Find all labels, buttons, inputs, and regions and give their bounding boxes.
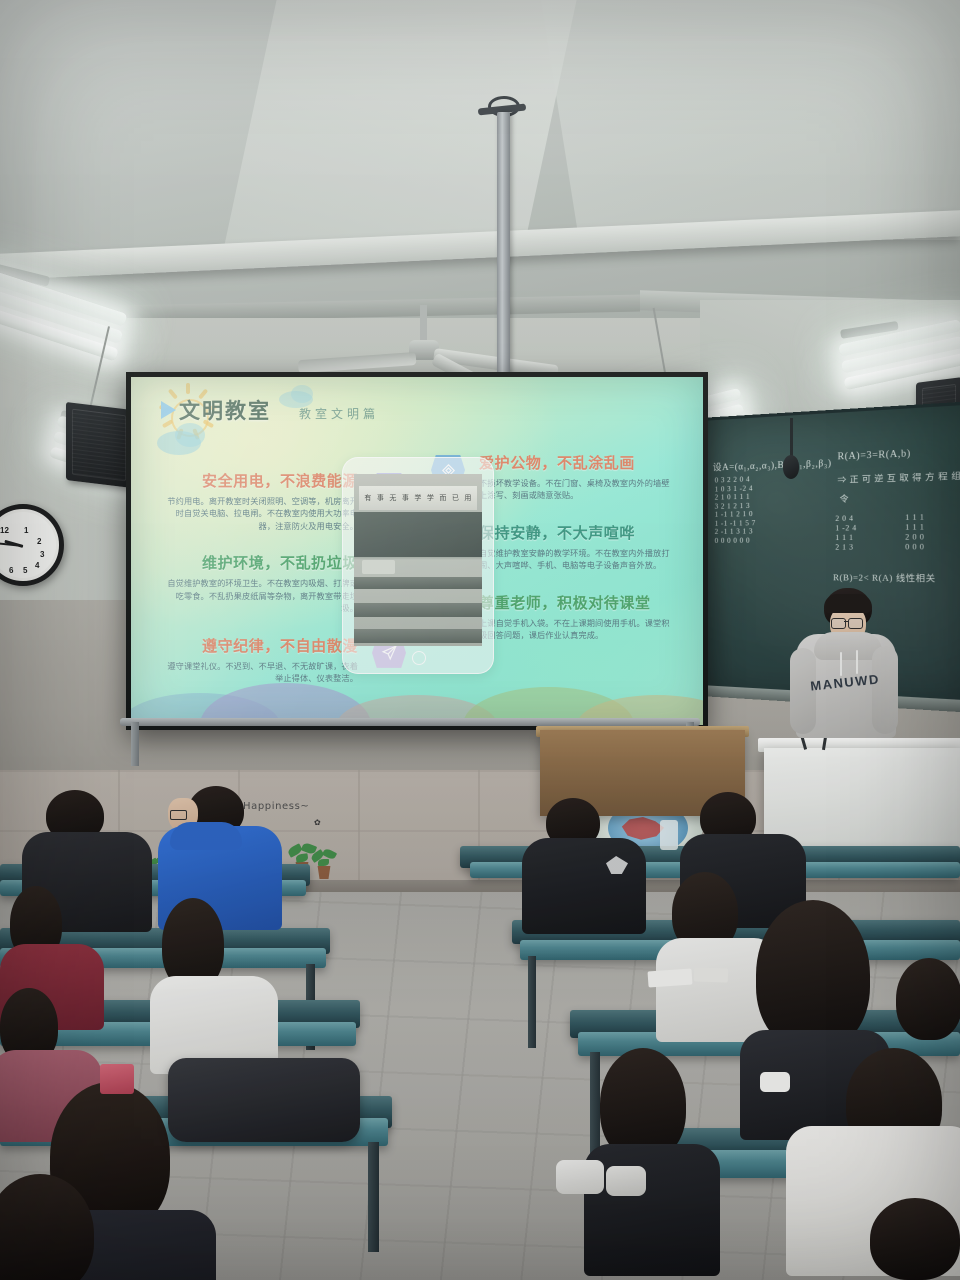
- student-hair: [896, 958, 960, 1040]
- student-torso: [522, 838, 646, 934]
- sneaker: [606, 1166, 646, 1196]
- clock-number: 12: [0, 526, 9, 535]
- cloud-doodle-icon: [175, 423, 205, 447]
- clock-minute-hand: [0, 542, 23, 547]
- screen-arm-left: [131, 722, 139, 766]
- clock-number: 1: [24, 526, 28, 535]
- section-heading: 保持安静，不大声喧哗: [479, 525, 674, 543]
- student-hair: [756, 900, 870, 1050]
- screen-support-rod: [120, 718, 700, 726]
- slide-section-safe-electricity: 安全用电，不浪费能源 节约用电。离开教室时关闭照明、空调等，机房离开时自觉关电脑…: [163, 473, 358, 533]
- section-body: 自觉维护教室的环境卫生。不在教室内吸烟、打牌或吃零食。不乱扔果皮纸屑等杂物，离开…: [163, 578, 358, 615]
- blackboard-matrix-right-b: 1 1 11 1 1 2 0 00 0 0: [905, 513, 924, 553]
- section-heading: 尊重老师，积极对待课堂: [479, 595, 674, 613]
- slide-column-right: 爱护公物，不乱涂乱画 不损坏教学设备。不在门窗、桌椅及教室内外的墙壁上涂写、刻画…: [479, 455, 674, 665]
- slide-title: 文明教室: [179, 395, 271, 425]
- glasses-icon: [848, 618, 863, 629]
- presenter-arm-right: [872, 646, 898, 734]
- ceiling: [0, 0, 960, 330]
- wall-graffiti: Happiness~: [243, 801, 309, 812]
- section-body: 不损坏教学设备。不在门窗、桌椅及教室内外的墙壁上涂写、刻画或随意张贴。: [479, 478, 674, 503]
- blackboard-line: R(B)=2< R(A) 线性相关: [833, 572, 936, 585]
- photo-banner-text: 有 事 无 事 学 学 而 已 用: [362, 486, 475, 510]
- classroom-photo: 12 1 2 3 4 5 6 设A=(α₁,α₂,α₃),B=(β₁,β₂,β₃…: [0, 0, 960, 1280]
- slide-hills-decoration: [131, 665, 703, 725]
- slide-section-respect-teachers: 尊重老师，积极对待课堂 上课自觉手机入袋。不在上课期间使用手机。课堂积极回答问题…: [479, 595, 674, 643]
- photo-desk: [354, 629, 482, 643]
- pencil-case: [100, 1064, 134, 1094]
- notebook: [694, 967, 728, 982]
- presenter-fringe: [824, 594, 872, 613]
- section-body: 节约用电。离开教室时关闭照明、空调等，机房离开时自觉关电脑、拉电闸。不在教室内使…: [163, 496, 358, 533]
- paper-sheet: [647, 968, 692, 987]
- slide-subtitle: 教室文明篇: [299, 405, 379, 422]
- ceiling-panel-left: [223, 0, 576, 250]
- ceiling-panel-right: [541, 0, 960, 240]
- section-heading: 遵守纪律，不自由散漫: [163, 638, 358, 656]
- clock-number: 6: [9, 566, 13, 575]
- projection-screen-frame: 文明教室 教室文明篇 安全用电，不浪费能源 节约用电。离开教室时关闭照明、空调等…: [126, 372, 708, 730]
- home-button-icon: [412, 651, 426, 665]
- section-heading: 安全用电，不浪费能源: [163, 473, 358, 491]
- projector-pole: [497, 112, 510, 397]
- student-hair: [870, 1198, 960, 1280]
- section-body: 上课自觉手机入袋。不在上课期间使用手机。课堂积极回答问题，课后作业认真完成。: [479, 618, 674, 643]
- sneaker: [556, 1160, 604, 1194]
- slide-section-protect-environment: 维护环境，不乱扔垃圾 自觉维护教室的环境卫生。不在教室内吸烟、打牌或吃零食。不乱…: [163, 555, 358, 615]
- ceiling-fan-rod: [420, 305, 427, 345]
- bench-leg: [368, 1142, 379, 1252]
- clock-number: 5: [23, 566, 27, 575]
- photo-desk: [354, 577, 482, 589]
- clock-number: 4: [35, 561, 39, 570]
- photo-desk: [354, 603, 482, 617]
- photo-light: [362, 560, 395, 574]
- section-heading: 维护环境，不乱扔垃圾: [163, 555, 358, 573]
- tissue-pack: [760, 1072, 790, 1092]
- cloud-doodle-icon: [291, 385, 313, 403]
- clock-number: 3: [40, 550, 44, 559]
- slide-section-protect-property: 爱护公物，不乱涂乱画 不损坏教学设备。不在门窗、桌椅及教室内外的墙壁上涂写、刻画…: [479, 455, 674, 503]
- blackboard-matrix-right-a: 2 0 41 -2 4 1 1 12 1 3: [835, 514, 856, 553]
- student-torso: [584, 1144, 720, 1276]
- student-hood: [170, 822, 242, 850]
- glasses-icon: [170, 810, 187, 820]
- slide-center-photo-frame: 有 事 无 事 学 学 而 已 用: [342, 457, 494, 674]
- clock-face: 12 1 2 3 4 5 6: [0, 512, 56, 578]
- wall-speaker-left: [66, 402, 132, 488]
- section-heading: 爱护公物，不乱涂乱画: [479, 455, 674, 473]
- play-triangle-icon: [161, 401, 176, 419]
- backpack: [168, 1058, 360, 1142]
- wall-doodle-icon: ✿: [314, 818, 321, 827]
- slide-section-keep-quiet: 保持安静，不大声喧哗 自觉维护教室安静的教学环境。不在教室内外播放打闹、大声喧哗…: [479, 525, 674, 573]
- lecture-hall-room: 12 1 2 3 4 5 6 设A=(α₁,α₂,α₃),B=(β₁,β₂,β₃…: [0, 0, 960, 1280]
- blackboard-line: 令: [840, 493, 849, 505]
- hanging-microphone-icon: [783, 455, 799, 479]
- projected-slide: 文明教室 教室文明篇 安全用电，不浪费能源 节约用电。离开教室时关闭照明、空调等…: [131, 377, 703, 725]
- classroom-photo-thumbnail: 有 事 无 事 学 学 而 已 用: [354, 474, 482, 646]
- glasses-bridge: [844, 621, 849, 622]
- section-body: 自觉维护教室安静的教学环境。不在教室内外播放打闹、大声喧哗、手机、电脑等电子设备…: [479, 548, 674, 573]
- presenter-student: MANUWD: [790, 588, 898, 740]
- hanging-microphone-cord: [790, 418, 793, 460]
- clock-number: 2: [37, 537, 41, 546]
- water-bottle: [660, 820, 678, 850]
- glasses-icon: [831, 618, 846, 629]
- blackboard-matrix-left: 0 3 2 2 0 41 0 3 1 -2 4 2 1 0 1 1 13 2 1…: [715, 475, 756, 545]
- photo-blackboard: [354, 512, 482, 557]
- bench-leg: [528, 956, 536, 1048]
